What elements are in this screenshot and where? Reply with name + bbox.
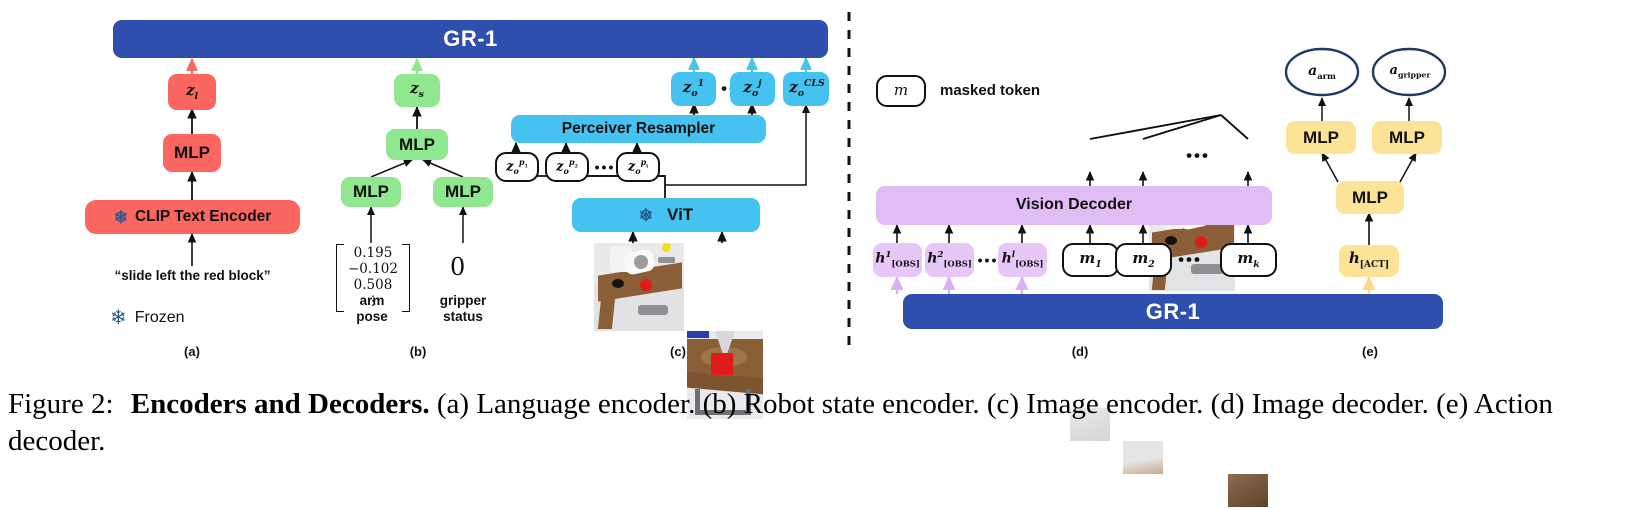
gripper-status-label: gripper status	[424, 293, 502, 325]
language-output-token: zl	[168, 74, 216, 110]
image-token-cls: zoCLS	[783, 72, 829, 106]
panel-caption-d: (d)	[1040, 344, 1120, 359]
obs-token-2-label: h2[OBS]	[927, 251, 972, 268]
patch-token-2-label: zop2	[556, 158, 578, 175]
mask-token-k: mk	[1220, 243, 1277, 277]
state-mlp-top: MLP	[386, 129, 448, 160]
clip-text-encoder: ❄ CLIP Text Encoder	[85, 200, 300, 234]
arm-pose-label-line1: arm	[336, 293, 408, 309]
static-camera-image	[594, 243, 684, 331]
obs-token-1: h1[OBS]	[873, 243, 922, 277]
mask-token-2: m2	[1115, 243, 1172, 277]
action-mlp-shared: MLP	[1336, 181, 1404, 214]
arm-pose-label-line2: pose	[336, 309, 408, 325]
figure-canvas: GR-1 zl MLP ❄ CLIP Text Encoder “slide l…	[0, 0, 1644, 510]
act-token-label: h[ACT]	[1349, 251, 1389, 270]
mask-token-ellipsis: •••	[1176, 243, 1204, 277]
frozen-legend: ❄ Frozen	[110, 308, 185, 328]
state-mlp-gripper: MLP	[433, 177, 493, 207]
state-output-token: zs	[394, 74, 440, 107]
patch-token-1: zop1	[495, 152, 539, 182]
mask-token-1-label: m1	[1079, 251, 1101, 270]
image-token-1: zo1	[671, 72, 716, 106]
decoded-patch-ellipsis: •••	[1178, 139, 1218, 172]
image-token-cls-label: zoCLS	[789, 79, 824, 99]
image-token-1-label: zo1	[683, 79, 704, 99]
decoded-patch-k	[1228, 474, 1268, 507]
obs-token-l: hl[OBS]	[998, 243, 1047, 277]
obs-token-ellipsis: •••	[977, 243, 999, 277]
panel-caption-a: (a)	[152, 344, 232, 359]
figure-caption-title: Encoders and Decoders.	[131, 388, 430, 420]
patch-token-i: zopi	[616, 152, 660, 182]
snowflake-icon: ❄	[639, 207, 653, 224]
language-token-label: zl	[186, 83, 198, 102]
patch-token-2: zop2	[545, 152, 589, 182]
obs-token-l-label: hl[OBS]	[1002, 251, 1044, 268]
state-mlp-arm: MLP	[341, 177, 401, 207]
image-token-j-label: zoj	[743, 79, 761, 99]
masked-token-legend-box: m	[876, 75, 926, 107]
act-token: h[ACT]	[1339, 245, 1399, 277]
snowflake-icon: ❄	[110, 308, 127, 328]
masked-token-legend-symbol: m	[894, 83, 908, 99]
frozen-legend-label: Frozen	[135, 309, 185, 327]
image-token-j: zoj	[730, 72, 775, 106]
arm-pose-label: arm pose	[336, 293, 408, 325]
panel-caption-e: (e)	[1330, 344, 1410, 359]
vision-decoder: Vision Decoder	[876, 186, 1272, 225]
gr1-backbone-right: GR-1	[903, 294, 1443, 329]
vit-encoder-label: ViT	[667, 206, 693, 224]
obs-token-1-label: h1[OBS]	[875, 251, 920, 268]
arm-pose-value-0: 0.195	[348, 246, 398, 262]
arm-pose-value-2: 0.508	[348, 278, 398, 294]
panel-caption-b: (b)	[378, 344, 458, 359]
perceiver-resampler: Perceiver Resampler	[511, 115, 766, 143]
action-gripper-label: agripper	[1390, 64, 1431, 80]
panel-caption-c: (c)	[638, 344, 718, 359]
language-instruction: “slide left the red block”	[110, 268, 275, 284]
patch-token-i-label: zopi	[628, 158, 648, 175]
action-gripper-output: agripper	[1371, 60, 1449, 84]
patch-token-ellipsis: •••	[592, 152, 618, 182]
gripper-label-line1: gripper	[424, 293, 502, 309]
action-arm-output: aarm	[1286, 60, 1358, 84]
obs-token-2: h2[OBS]	[925, 243, 974, 277]
patch-token-1-label: zop1	[506, 158, 528, 175]
mask-token-1: m1	[1062, 243, 1119, 277]
action-mlp-arm: MLP	[1286, 121, 1356, 154]
gripper-label-line2: status	[424, 309, 502, 325]
gripper-status-value: 0	[450, 253, 465, 281]
mask-token-k-label: mk	[1237, 251, 1259, 270]
figure-caption: Figure 2: Encoders and Decoders. (a) Lan…	[8, 386, 1638, 460]
mask-token-2-label: m2	[1132, 251, 1154, 270]
snowflake-icon: ❄	[114, 209, 128, 226]
state-token-label: zs	[410, 81, 424, 100]
language-mlp: MLP	[163, 134, 221, 172]
vit-encoder: ❄ ViT	[572, 198, 760, 232]
clip-text-encoder-label: CLIP Text Encoder	[135, 209, 271, 225]
gr1-backbone-left: GR-1	[113, 20, 828, 58]
arm-pose-value-1: −0.102	[348, 262, 398, 278]
action-mlp-gripper: MLP	[1372, 121, 1442, 154]
masked-token-legend-label: masked token	[940, 82, 1040, 99]
figure-caption-label: Figure 2:	[8, 388, 114, 420]
action-arm-label: aarm	[1308, 64, 1336, 81]
